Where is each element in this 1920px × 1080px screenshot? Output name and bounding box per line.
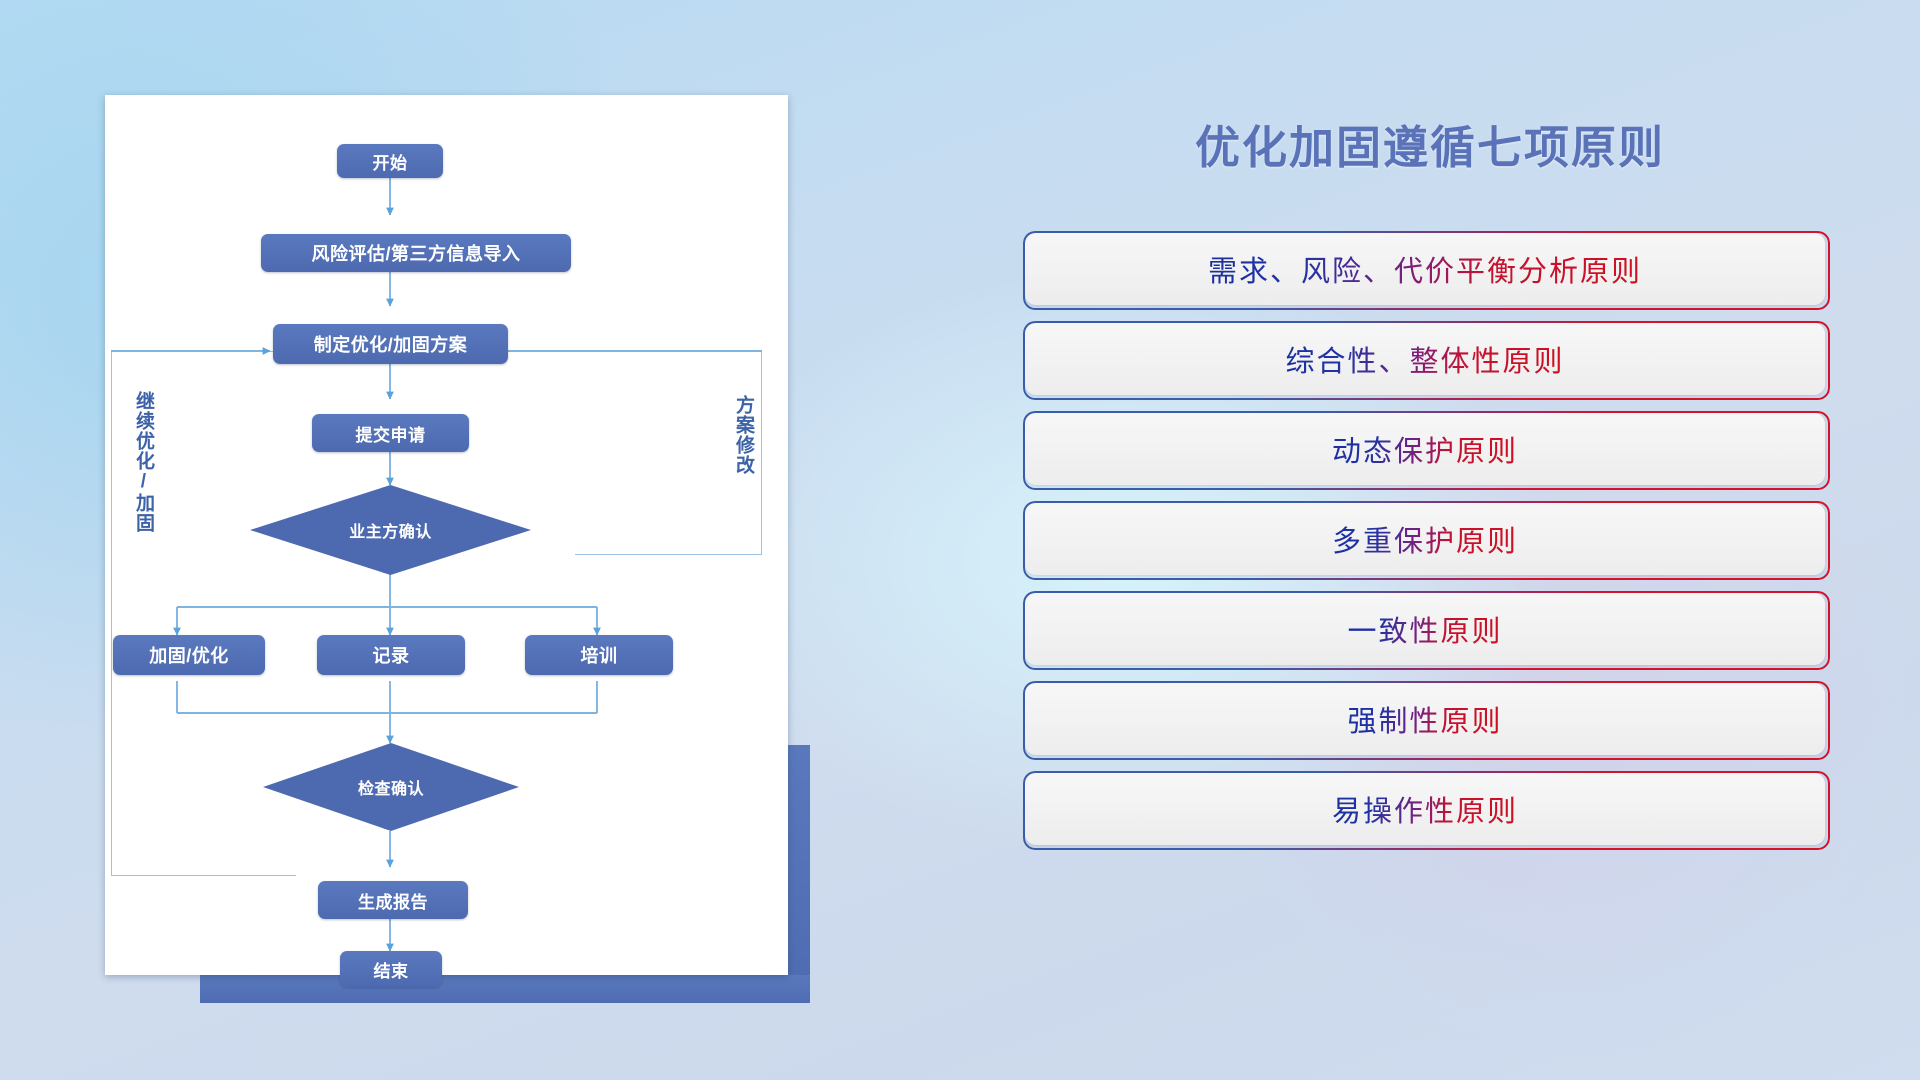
flow-node-training[interactable]: 培训 (525, 635, 673, 675)
flow-node-plan[interactable]: 制定优化/加固方案 (273, 324, 508, 364)
principle-item[interactable]: 强制性原则 (1025, 683, 1825, 755)
principle-item[interactable]: 多重保护原则 (1025, 503, 1825, 575)
flow-node-reinforce-optimize[interactable]: 加固/优化 (113, 635, 265, 675)
principle-list: 需求、风险、代价平衡分析原则 综合性、整体性原则 动态保护原则 多重保护原则 一… (1025, 233, 1825, 863)
principle-label: 动态保护原则 (1332, 428, 1518, 470)
flow-node-generate-report[interactable]: 生成报告 (318, 881, 468, 919)
edge-label-continue-optimize: 继续优化/加固 (133, 391, 153, 533)
flow-node-submit-application[interactable]: 提交申请 (312, 414, 469, 452)
principle-label: 多重保护原则 (1332, 518, 1518, 560)
principle-label: 综合性、整体性原则 (1285, 338, 1564, 380)
flow-node-start[interactable]: 开始 (337, 144, 443, 178)
slide-root: 开始 风险评估/第三方信息导入 制定优化/加固方案 提交申请 业主方确认 加固/… (0, 0, 1920, 1080)
principle-item[interactable]: 动态保护原则 (1025, 413, 1825, 485)
principle-label: 需求、风险、代价平衡分析原则 (1208, 248, 1642, 290)
flow-node-risk-assessment[interactable]: 风险评估/第三方信息导入 (261, 234, 571, 272)
flow-node-end[interactable]: 结束 (340, 951, 442, 987)
flow-node-check-confirm[interactable]: 检查确认 (263, 743, 519, 831)
principle-label: 强制性原则 (1347, 698, 1502, 740)
panel-title: 优化加固遵循七项原则 (1020, 111, 1840, 176)
principle-item[interactable]: 一致性原则 (1025, 593, 1825, 665)
principle-item[interactable]: 易操作性原则 (1025, 773, 1825, 845)
flowchart-card: 开始 风险评估/第三方信息导入 制定优化/加固方案 提交申请 业主方确认 加固/… (105, 95, 788, 975)
edge-label-plan-revision: 方案修改 (733, 395, 753, 475)
decorative-accent-bar (200, 975, 810, 1003)
principles-panel: 优化加固遵循七项原则 需求、风险、代价平衡分析原则 综合性、整体性原则 动态保护… (1020, 95, 1840, 1025)
principle-item[interactable]: 需求、风险、代价平衡分析原则 (1025, 233, 1825, 305)
principle-label: 易操作性原则 (1332, 788, 1518, 830)
principle-item[interactable]: 综合性、整体性原则 (1025, 323, 1825, 395)
principle-label: 一致性原则 (1347, 608, 1502, 650)
flow-node-record[interactable]: 记录 (317, 635, 465, 675)
flow-node-owner-confirm[interactable]: 业主方确认 (250, 485, 531, 575)
